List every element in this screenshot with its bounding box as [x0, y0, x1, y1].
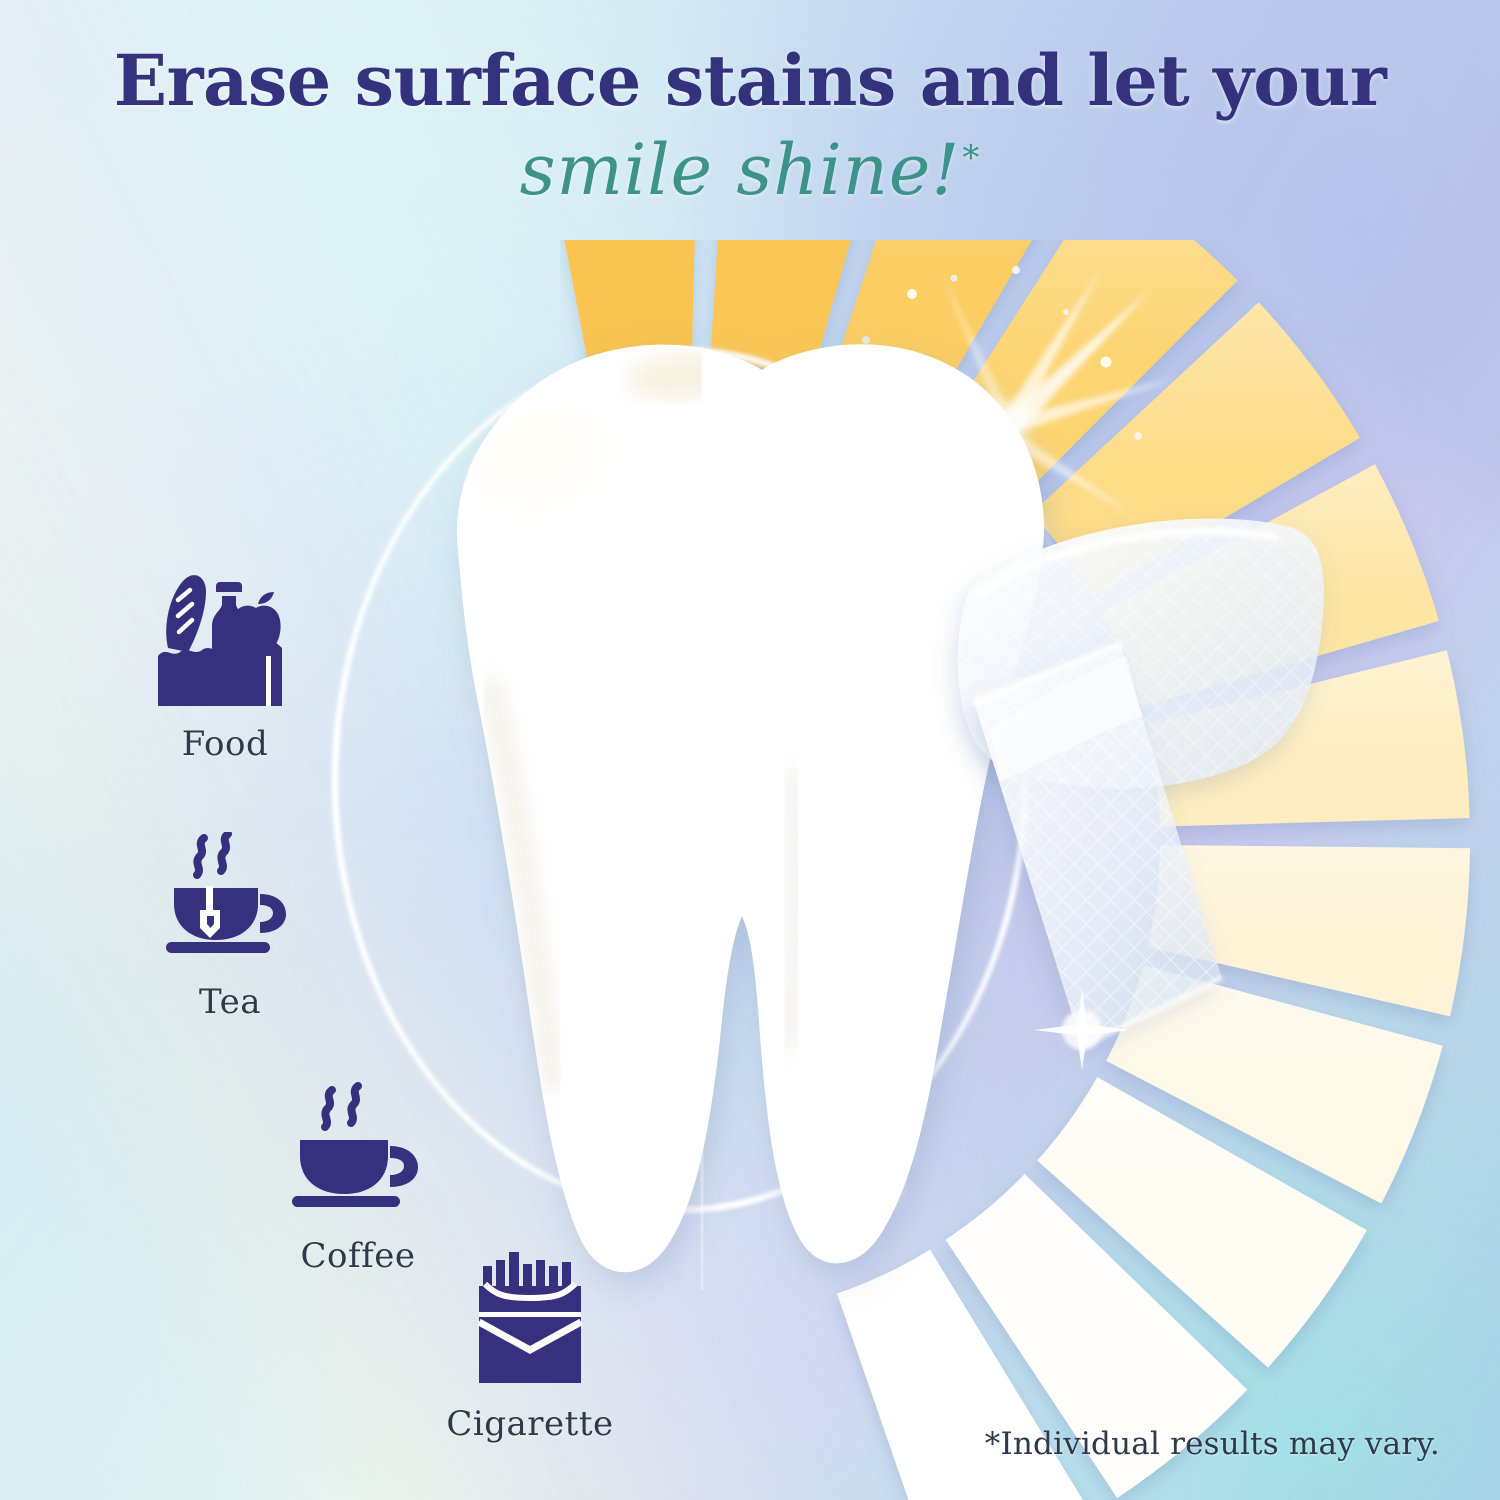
headline-line-1: Erase surface stains and let your: [0, 44, 1500, 118]
stain-source-tea-label: Tea: [120, 982, 340, 1022]
headline-line-2-text: smile shine!: [520, 129, 961, 211]
headline-line-2: smile shine!*: [520, 134, 981, 208]
coffee-cup-icon: [288, 1082, 428, 1222]
cigarette-pack-icon: [465, 1250, 595, 1390]
grocery-bag-icon: [150, 560, 300, 710]
headline: Erase surface stains and let your smile …: [0, 44, 1500, 207]
stain-source-food: Food: [95, 560, 355, 764]
headline-asterisk: *: [962, 138, 980, 178]
sparkle-burst-icon: [820, 250, 1240, 670]
stain-source-cigarette: Cigarette: [400, 1250, 660, 1444]
stain-source-coffee: Coffee: [238, 1082, 478, 1276]
stain-source-food-label: Food: [95, 724, 355, 764]
product-graphic-canvas: Erase surface stains and let your smile …: [0, 0, 1500, 1500]
stain-source-cigarette-label: Cigarette: [400, 1404, 660, 1444]
tea-cup-icon: [162, 832, 298, 968]
footnote-disclaimer: *Individual results may vary.: [985, 1426, 1440, 1462]
stain-source-tea: Tea: [120, 832, 340, 1022]
